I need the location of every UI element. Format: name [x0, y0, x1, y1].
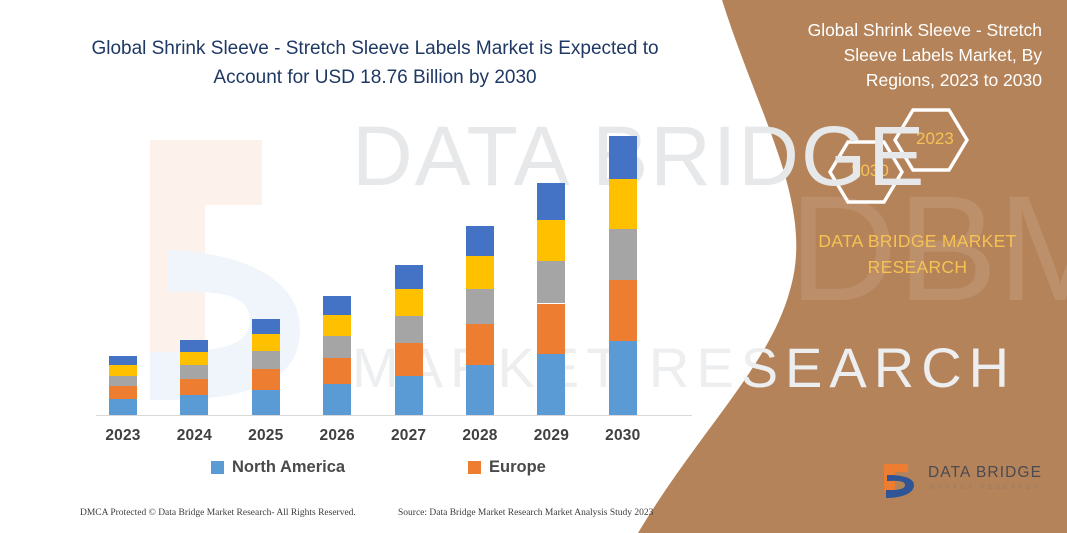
panel-brand-text: DATA BRIDGE MARKET RESEARCH [790, 228, 1045, 280]
bar-segment[interactable] [109, 365, 137, 375]
bar-segment[interactable] [537, 220, 565, 261]
legend-swatch-icon [211, 461, 224, 474]
bar-segment[interactable] [395, 289, 423, 316]
bar-segment[interactable] [109, 376, 137, 387]
bar-segment[interactable] [323, 384, 351, 415]
chart-legend: North America Europe [0, 456, 720, 480]
bar-segment[interactable] [323, 315, 351, 336]
bar-column[interactable] [252, 319, 280, 415]
bar-segment[interactable] [323, 358, 351, 384]
x-tick-label: 2025 [230, 427, 302, 445]
bar-segment[interactable] [466, 226, 494, 256]
bar-segment[interactable] [180, 340, 208, 352]
x-tick-label: 2027 [373, 427, 445, 445]
bar-segment[interactable] [537, 304, 565, 355]
bar-segment[interactable] [537, 183, 565, 220]
logo-mark-icon [878, 458, 924, 504]
bar-column[interactable] [109, 356, 137, 415]
bar-segment[interactable] [537, 354, 565, 415]
logo-tagline: MARKET RESEARCH [929, 484, 1042, 491]
bar-segment[interactable] [323, 296, 351, 315]
bar-segment[interactable] [180, 365, 208, 379]
bar-segment[interactable] [109, 356, 137, 365]
bar-segment[interactable] [252, 319, 280, 334]
bar-segment[interactable] [252, 369, 280, 390]
bar-segment[interactable] [180, 395, 208, 415]
bar-segment[interactable] [252, 334, 280, 351]
bar-segment[interactable] [395, 316, 423, 343]
bar-segment[interactable] [537, 261, 565, 303]
bar-segment[interactable] [466, 289, 494, 323]
bar-segment[interactable] [609, 280, 637, 341]
x-tick-label: 2029 [515, 427, 587, 445]
logo-name: DATA BRIDGE [928, 464, 1042, 482]
bar-segment[interactable] [609, 341, 637, 415]
bar-segment[interactable] [609, 229, 637, 280]
bar-segment[interactable] [252, 351, 280, 369]
x-tick-label: 2024 [158, 427, 230, 445]
stacked-bar-chart: 20232024202520262027202820292030 [0, 0, 720, 533]
bar-segment[interactable] [466, 324, 494, 365]
bar-segment[interactable] [180, 352, 208, 365]
footer-source: Source: Data Bridge Market Research Mark… [398, 508, 653, 518]
bar-column[interactable] [609, 136, 637, 415]
legend-item-europe[interactable]: Europe [468, 458, 546, 477]
x-tick-label: 2026 [301, 427, 373, 445]
legend-label: North America [232, 458, 345, 477]
bar-column[interactable] [395, 265, 423, 415]
legend-item-north-america[interactable]: North America [211, 458, 345, 477]
legend-swatch-icon [468, 461, 481, 474]
company-logo: DATA BRIDGE MARKET RESEARCH [878, 458, 1053, 504]
bar-column[interactable] [323, 296, 351, 415]
bar-segment[interactable] [395, 343, 423, 376]
x-tick-label: 2023 [87, 427, 159, 445]
x-tick-label: 2028 [444, 427, 516, 445]
bar-segment[interactable] [466, 365, 494, 415]
bar-column[interactable] [180, 340, 208, 415]
bar-column[interactable] [537, 183, 565, 415]
x-tick-label: 2030 [587, 427, 659, 445]
bar-segment[interactable] [466, 256, 494, 290]
bar-segment[interactable] [252, 390, 280, 415]
bar-segment[interactable] [609, 179, 637, 229]
footer-copyright: DMCA Protected © Data Bridge Market Rese… [80, 508, 356, 518]
bar-segment[interactable] [180, 379, 208, 395]
infographic-canvas: DBMR Global Shrink Sleeve - Stretch Slee… [0, 0, 1067, 533]
bar-segment[interactable] [109, 386, 137, 399]
bar-column[interactable] [466, 226, 494, 415]
bar-segment[interactable] [109, 399, 137, 415]
bar-segment[interactable] [609, 136, 637, 179]
legend-label: Europe [489, 458, 546, 477]
bar-segment[interactable] [395, 376, 423, 415]
x-axis-line [96, 415, 692, 416]
bar-segment[interactable] [395, 265, 423, 289]
bar-segment[interactable] [323, 336, 351, 358]
